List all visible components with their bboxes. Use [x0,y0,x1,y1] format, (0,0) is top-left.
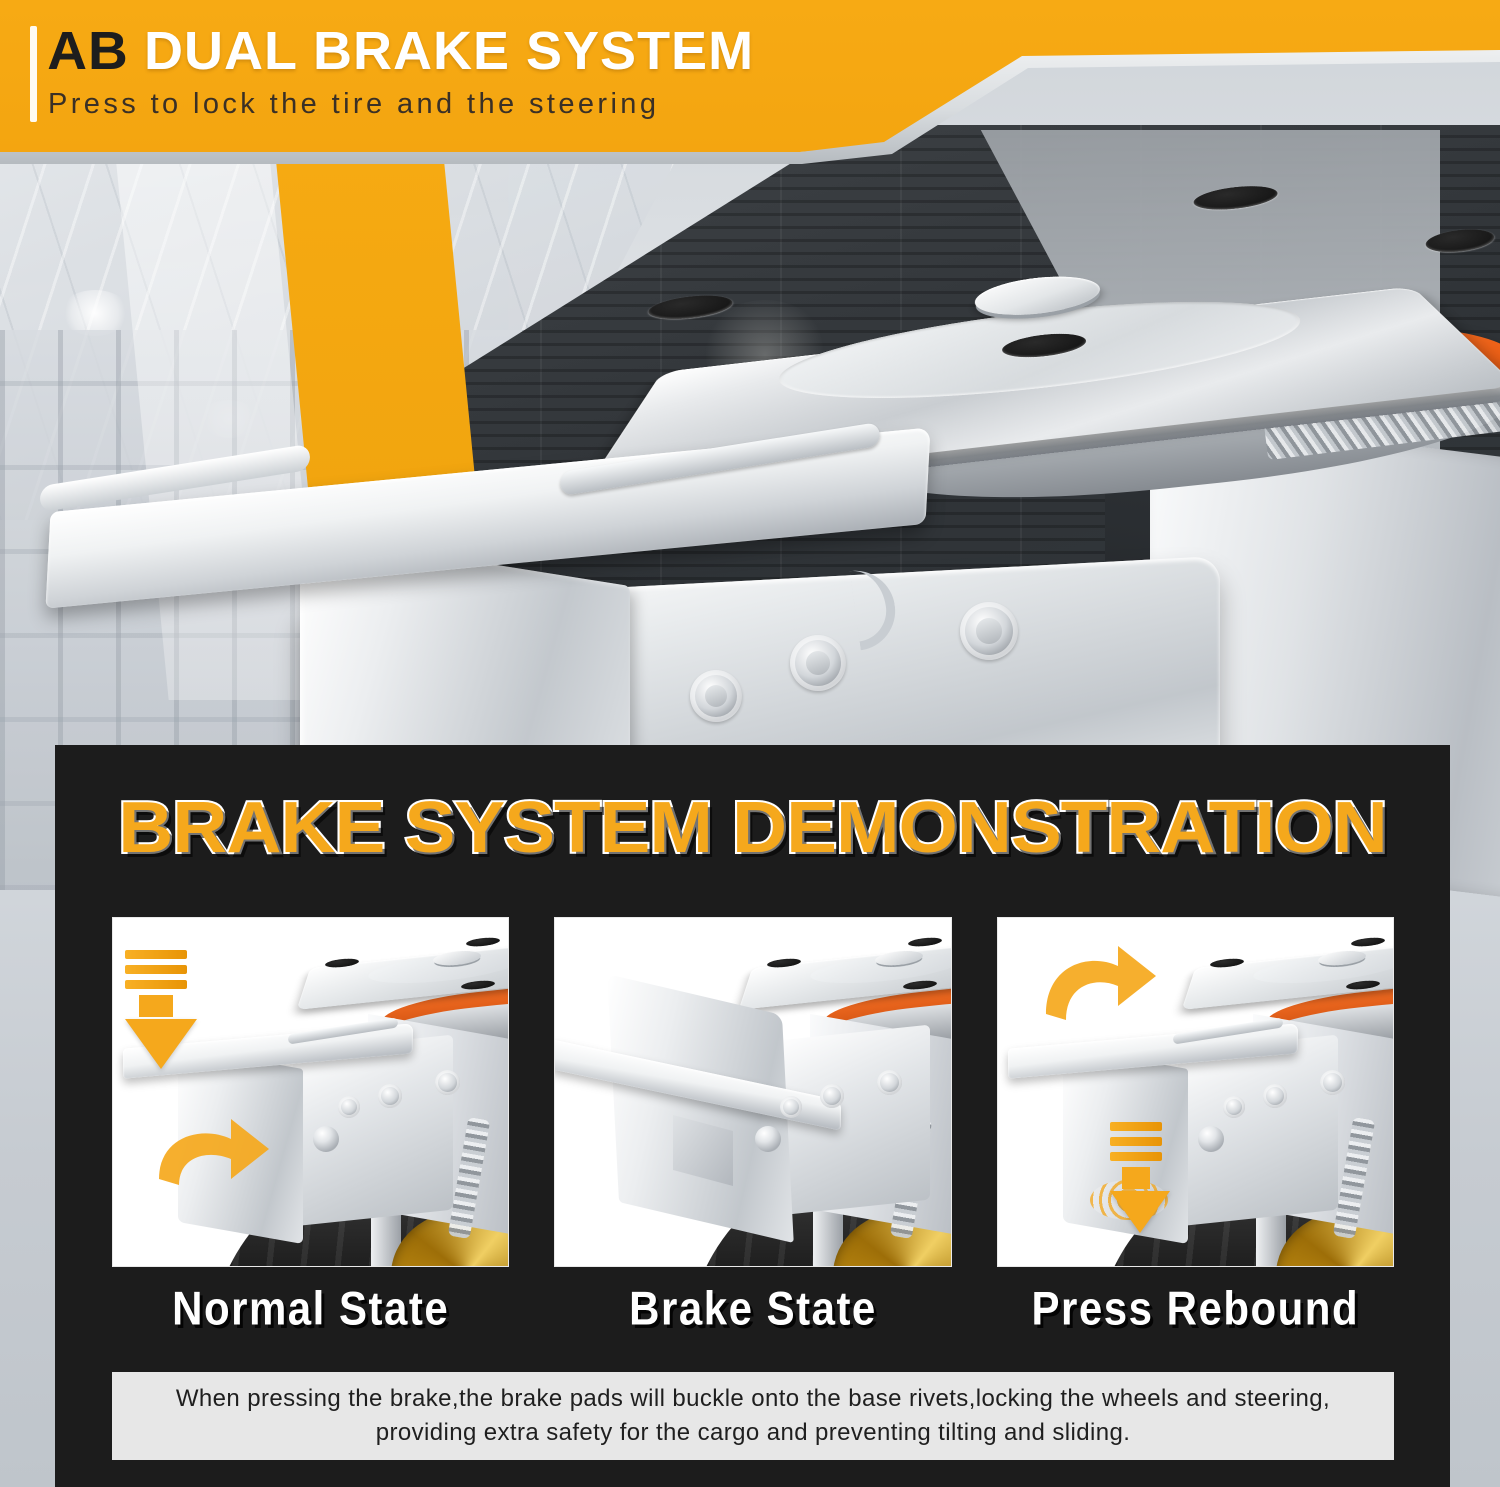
mounting-bolt-hole-icon [466,936,501,947]
state-label-brake: Brake State [554,1282,951,1336]
demo-section-title: BRAKE SYSTEM DEMONSTRATION [13,787,1492,869]
mounting-bolt-hole-icon [648,292,734,323]
demo-panel-brake-state[interactable] [554,917,951,1267]
arrow-curve-right-icon [153,1113,273,1193]
mounting-bolt-hole-icon [1425,226,1496,255]
demo-panel-normal-state[interactable] [112,917,509,1267]
demo-panel-press-rebound[interactable] [997,917,1394,1267]
base-rivet-icon [1320,1070,1345,1095]
base-rivet-icon [960,602,1018,660]
base-rivet-icon [690,670,742,722]
product-infographic: AB DUAL BRAKE SYSTEM Press to lock the t… [0,0,1500,1487]
mounting-bolt-hole-icon [908,936,943,947]
base-rivet-icon [338,1096,360,1118]
brake-demo-section: BRAKE SYSTEM DEMONSTRATION [55,745,1450,1487]
hero-caster-illustration [0,150,1500,770]
base-rivet-icon [435,1070,460,1095]
base-rivet-icon [378,1084,402,1108]
mounting-bolt-hole-icon [1194,183,1280,214]
state-label-normal: Normal State [112,1282,509,1336]
arrow-down-press-icon [125,950,187,1069]
mini-caster-illustration [555,918,950,1266]
arrow-curve-right-icon [1040,942,1160,1022]
state-label-row: Normal State Brake State Press Rebound [112,1285,1394,1333]
arrow-down-press-icon [1110,1122,1162,1233]
state-label-rebound: Press Rebound [997,1282,1394,1336]
base-rivet-icon [1263,1084,1287,1108]
ball-stud [1198,1126,1224,1152]
ball-stud [313,1126,339,1152]
mounting-bolt-hole-icon [1351,936,1386,947]
caption-line-2: providing extra safety for the cargo and… [376,1419,1131,1447]
demo-panel-row [112,917,1394,1267]
caption-bar: When pressing the brake,the brake pads w… [112,1372,1394,1460]
base-rivet-icon [1223,1096,1245,1118]
base-rivet-icon [790,635,846,691]
caption-line-1: When pressing the brake,the brake pads w… [176,1385,1330,1413]
